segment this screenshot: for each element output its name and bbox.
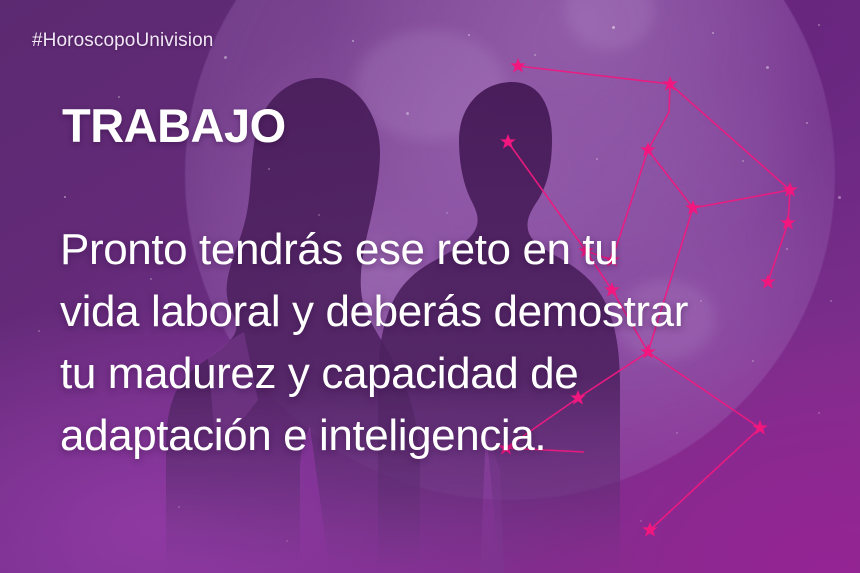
body-line: vida laboral y deberás demostrar [60,281,850,343]
body-line: tu madurez y capacidad de [60,343,850,405]
horoscope-card: #HoroscopoUnivision TRABAJO Pronto tendr… [0,0,860,573]
horoscope-body-text: Pronto tendrás ese reto en tu vida labor… [60,219,850,467]
body-line: adaptación e inteligencia. [60,405,850,467]
body-line: Pronto tendrás ese reto en tu [60,219,850,281]
hashtag-label: #HoroscopoUnivision [32,30,213,52]
page-title: TRABAJO [62,98,286,153]
